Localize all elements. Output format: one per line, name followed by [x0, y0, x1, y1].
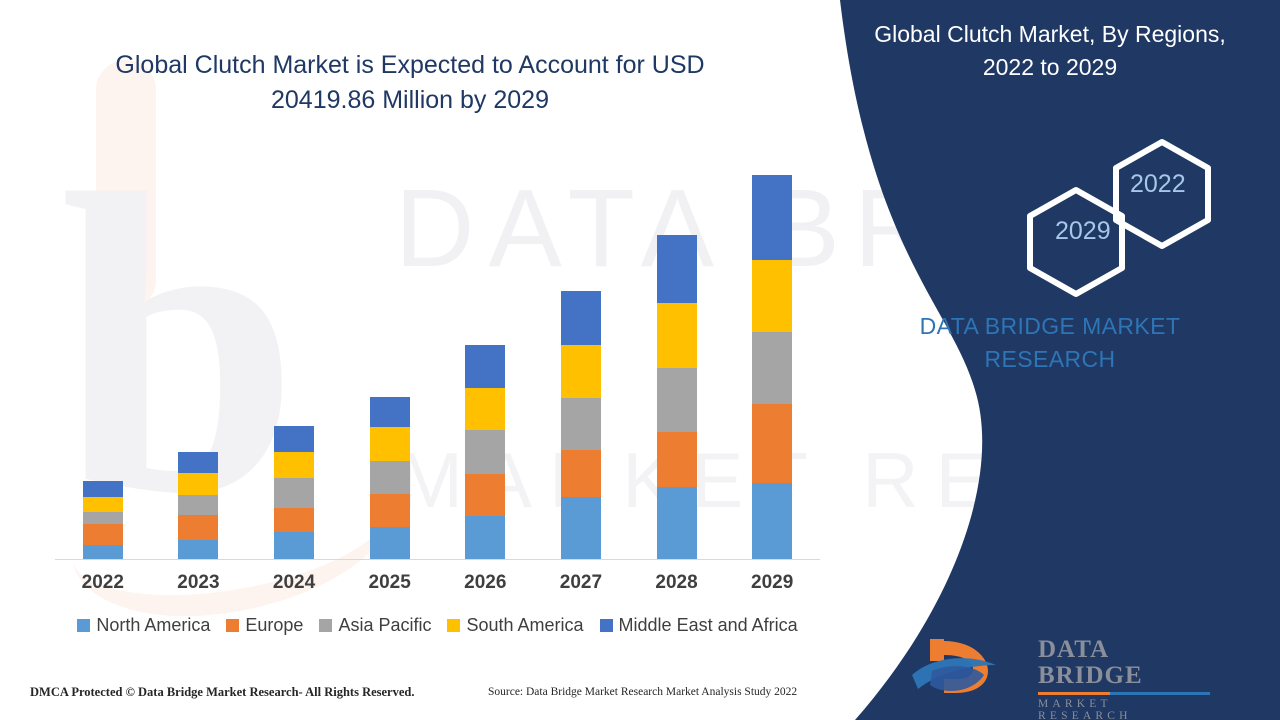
chart-legend: North AmericaEuropeAsia PacificSouth Ame…	[55, 615, 820, 636]
bar-segment[interactable]	[178, 495, 218, 515]
bar-segment[interactable]	[657, 235, 697, 303]
bar-slot	[724, 160, 820, 560]
brand-name: DATA BRIDGE MARKET RESEARCH	[860, 310, 1240, 375]
bar-segment[interactable]	[274, 478, 314, 508]
bar-segment[interactable]	[657, 432, 697, 487]
bar-segment[interactable]	[657, 368, 697, 432]
x-axis-tick-label: 2027	[533, 572, 629, 594]
bar-segment[interactable]	[83, 481, 123, 497]
stacked-bar[interactable]	[178, 452, 218, 560]
legend-swatch	[600, 619, 613, 632]
bar-segment[interactable]	[657, 487, 697, 560]
bar-segment[interactable]	[752, 404, 792, 483]
legend-label: South America	[466, 615, 583, 636]
bar-slot	[342, 160, 438, 560]
bar-segment[interactable]	[178, 515, 218, 540]
bar-slot	[55, 160, 151, 560]
x-axis-labels: 20222023202420252026202720282029	[55, 572, 820, 594]
bar-slot	[533, 160, 629, 560]
bar-segment[interactable]	[83, 524, 123, 545]
logo-mark-icon	[910, 635, 1025, 697]
bar-segment[interactable]	[83, 497, 123, 512]
logo-primary-text: DATA BRIDGE	[1038, 637, 1210, 690]
bar-segment[interactable]	[561, 398, 601, 450]
side-panel-content: Global Clutch Market, By Regions, 2022 t…	[810, 0, 1280, 720]
stacked-bar[interactable]	[83, 481, 123, 560]
bar-segment[interactable]	[657, 303, 697, 368]
x-axis-tick-label: 2029	[724, 572, 820, 594]
stacked-bar[interactable]	[657, 235, 697, 560]
bar-segment[interactable]	[178, 473, 218, 495]
bar-segment[interactable]	[465, 516, 505, 560]
bar-segment[interactable]	[178, 452, 218, 473]
bar-segment[interactable]	[370, 427, 410, 461]
bar-segment[interactable]	[370, 527, 410, 560]
bar-segment[interactable]	[370, 461, 410, 494]
bar-segment[interactable]	[83, 512, 123, 524]
stacked-bar[interactable]	[561, 291, 601, 560]
x-axis-tick-label: 2023	[151, 572, 247, 594]
legend-item[interactable]: South America	[447, 615, 583, 636]
x-axis-tick-label: 2025	[342, 572, 438, 594]
logo-secondary-text: MARKET RESEARCH	[1038, 698, 1210, 720]
stacked-bar[interactable]	[752, 175, 792, 560]
bar-segment[interactable]	[274, 508, 314, 532]
bar-segment[interactable]	[83, 545, 123, 560]
bar-group	[55, 160, 820, 560]
bar-segment[interactable]	[752, 332, 792, 404]
bar-segment[interactable]	[752, 483, 792, 560]
bar-segment[interactable]	[561, 497, 601, 560]
stacked-bar[interactable]	[465, 345, 505, 560]
legend-label: Asia Pacific	[338, 615, 431, 636]
x-axis-tick-label: 2028	[629, 572, 725, 594]
bar-segment[interactable]	[465, 388, 505, 430]
hexagon-badge-2029-label: 2029	[1055, 217, 1111, 246]
logo-underline	[1038, 692, 1210, 695]
legend-item[interactable]: Europe	[226, 615, 303, 636]
bar-segment[interactable]	[465, 430, 505, 474]
x-axis-tick-label: 2024	[246, 572, 342, 594]
bar-segment[interactable]	[561, 450, 601, 497]
bar-segment[interactable]	[274, 426, 314, 452]
chart-plot-area	[55, 160, 820, 560]
bar-slot	[438, 160, 534, 560]
x-axis-line	[55, 559, 820, 560]
x-axis-tick-label: 2022	[55, 572, 151, 594]
bar-segment[interactable]	[465, 345, 505, 388]
bar-segment[interactable]	[274, 532, 314, 560]
stacked-bar[interactable]	[370, 397, 410, 560]
bar-slot	[246, 160, 342, 560]
bar-slot	[629, 160, 725, 560]
legend-label: North America	[96, 615, 210, 636]
legend-item[interactable]: North America	[77, 615, 210, 636]
legend-item[interactable]: Middle East and Africa	[600, 615, 798, 636]
infographic-canvas: b DATA BRIDGE MARKET RESEARCH Global Clu…	[0, 0, 1280, 720]
company-logo: DATA BRIDGE MARKET RESEARCH	[910, 635, 1210, 697]
bar-segment[interactable]	[752, 260, 792, 332]
hexagon-badge-2022-label: 2022	[1130, 170, 1186, 199]
x-axis-tick-label: 2026	[438, 572, 534, 594]
bar-segment[interactable]	[752, 175, 792, 260]
hexagon-badge-group	[810, 130, 1280, 290]
bar-segment[interactable]	[370, 397, 410, 427]
dmca-notice: DMCA Protected © Data Bridge Market Rese…	[30, 685, 415, 700]
source-note: Source: Data Bridge Market Research Mark…	[488, 686, 797, 698]
bar-segment[interactable]	[178, 540, 218, 560]
bar-segment[interactable]	[465, 474, 505, 516]
stacked-bar[interactable]	[274, 426, 314, 560]
bar-segment[interactable]	[274, 452, 314, 478]
legend-swatch	[226, 619, 239, 632]
bar-segment[interactable]	[370, 494, 410, 527]
bar-segment[interactable]	[561, 291, 601, 345]
logo-text-block: DATA BRIDGE MARKET RESEARCH	[1038, 637, 1210, 720]
bar-slot	[151, 160, 247, 560]
legend-label: Middle East and Africa	[619, 615, 798, 636]
legend-item[interactable]: Asia Pacific	[319, 615, 431, 636]
legend-label: Europe	[245, 615, 303, 636]
panel-title: Global Clutch Market, By Regions, 2022 t…	[860, 18, 1240, 83]
page-title: Global Clutch Market is Expected to Acco…	[60, 48, 760, 117]
bar-segment[interactable]	[561, 345, 601, 398]
legend-swatch	[77, 619, 90, 632]
legend-swatch	[319, 619, 332, 632]
legend-swatch	[447, 619, 460, 632]
